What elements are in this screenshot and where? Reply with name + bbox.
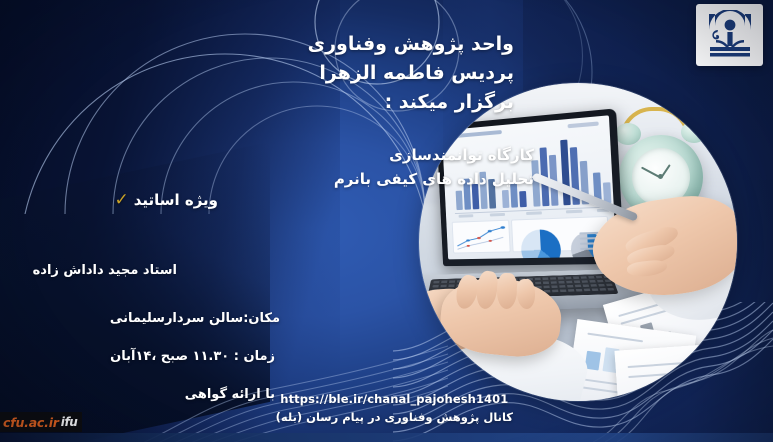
poster-canvas: واحد پژوهش وفناوری پردیس فاطمه الزهرا بر… — [0, 0, 773, 442]
university-emblem-icon — [704, 10, 756, 60]
audience-note: ویژه اساتید ✓ — [114, 190, 218, 212]
title-line-3: برگزار میکند : — [308, 88, 514, 117]
certificate-line: با ارائه گواهی — [185, 386, 275, 405]
channel-url[interactable]: https://ble.ir/chanal_pajohesh1401 — [276, 390, 513, 408]
watermark-mark: ifu — [61, 415, 78, 429]
cfu-logo — [696, 4, 763, 66]
check-icon: ✓ — [114, 192, 128, 209]
audience-label: ویژه اساتید — [134, 190, 218, 212]
site-watermark: ifu cfu.ac.ir — [0, 412, 82, 432]
title-line-2: پردیس فاطمه الزهرا — [308, 59, 514, 88]
data-analysis-photo — [419, 83, 737, 401]
workshop-line-2: تحلیل داده های کیفی بانرم — [334, 167, 534, 191]
clock-bell-right — [681, 121, 707, 143]
channel-description: کانال پژوهش وفناوری در پیام رسان (بله) — [276, 408, 513, 426]
page-title: واحد پژوهش وفناوری پردیس فاطمه الزهرا بر… — [308, 30, 514, 117]
bottom-strip — [0, 433, 773, 442]
workshop-line-1: کارگاه توانمندسازی — [334, 143, 534, 167]
instructor-name: استاد مجید داداش زاده — [33, 262, 177, 281]
title-line-1: واحد پژوهش وفناوری — [308, 30, 514, 59]
channel-info: https://ble.ir/chanal_pajohesh1401 کانال… — [276, 390, 513, 427]
line-chart-panel — [452, 220, 511, 254]
paper-sheet — [614, 343, 729, 401]
watermark-domain: cfu.ac.ir — [3, 415, 59, 430]
venue-line: مکان:سالن سردارسلیمانی — [110, 310, 280, 329]
workshop-title: کارگاه توانمندسازی تحلیل داده های کیفی ب… — [334, 143, 534, 192]
time-line: زمان : ۱۱.۳۰ صبح ،۱۴آبان — [110, 348, 275, 367]
